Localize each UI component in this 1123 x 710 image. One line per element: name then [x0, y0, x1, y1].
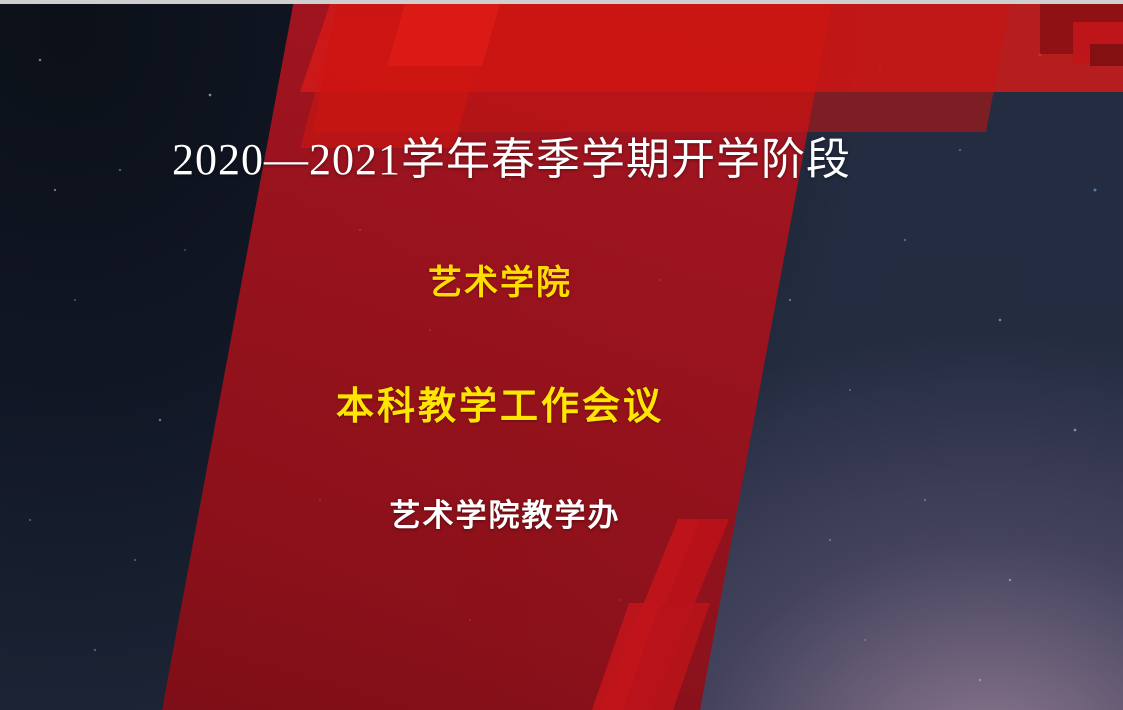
organization-name: 艺术学院	[0, 255, 1000, 304]
meeting-name: 本科教学工作会议	[0, 375, 1000, 430]
viewer-top-bar	[0, 0, 1123, 4]
presentation-slide: 2020—2021学年春季学期开学阶段 艺术学院 本科教学工作会议 艺术学院教学…	[0, 0, 1123, 710]
slide-title: 2020—2021学年春季学期开学阶段	[0, 136, 1023, 184]
slide-text-content: 2020—2021学年春季学期开学阶段 艺术学院 本科教学工作会议 艺术学院教学…	[0, 0, 1123, 710]
department-byline: 艺术学院教学办	[0, 490, 1010, 535]
